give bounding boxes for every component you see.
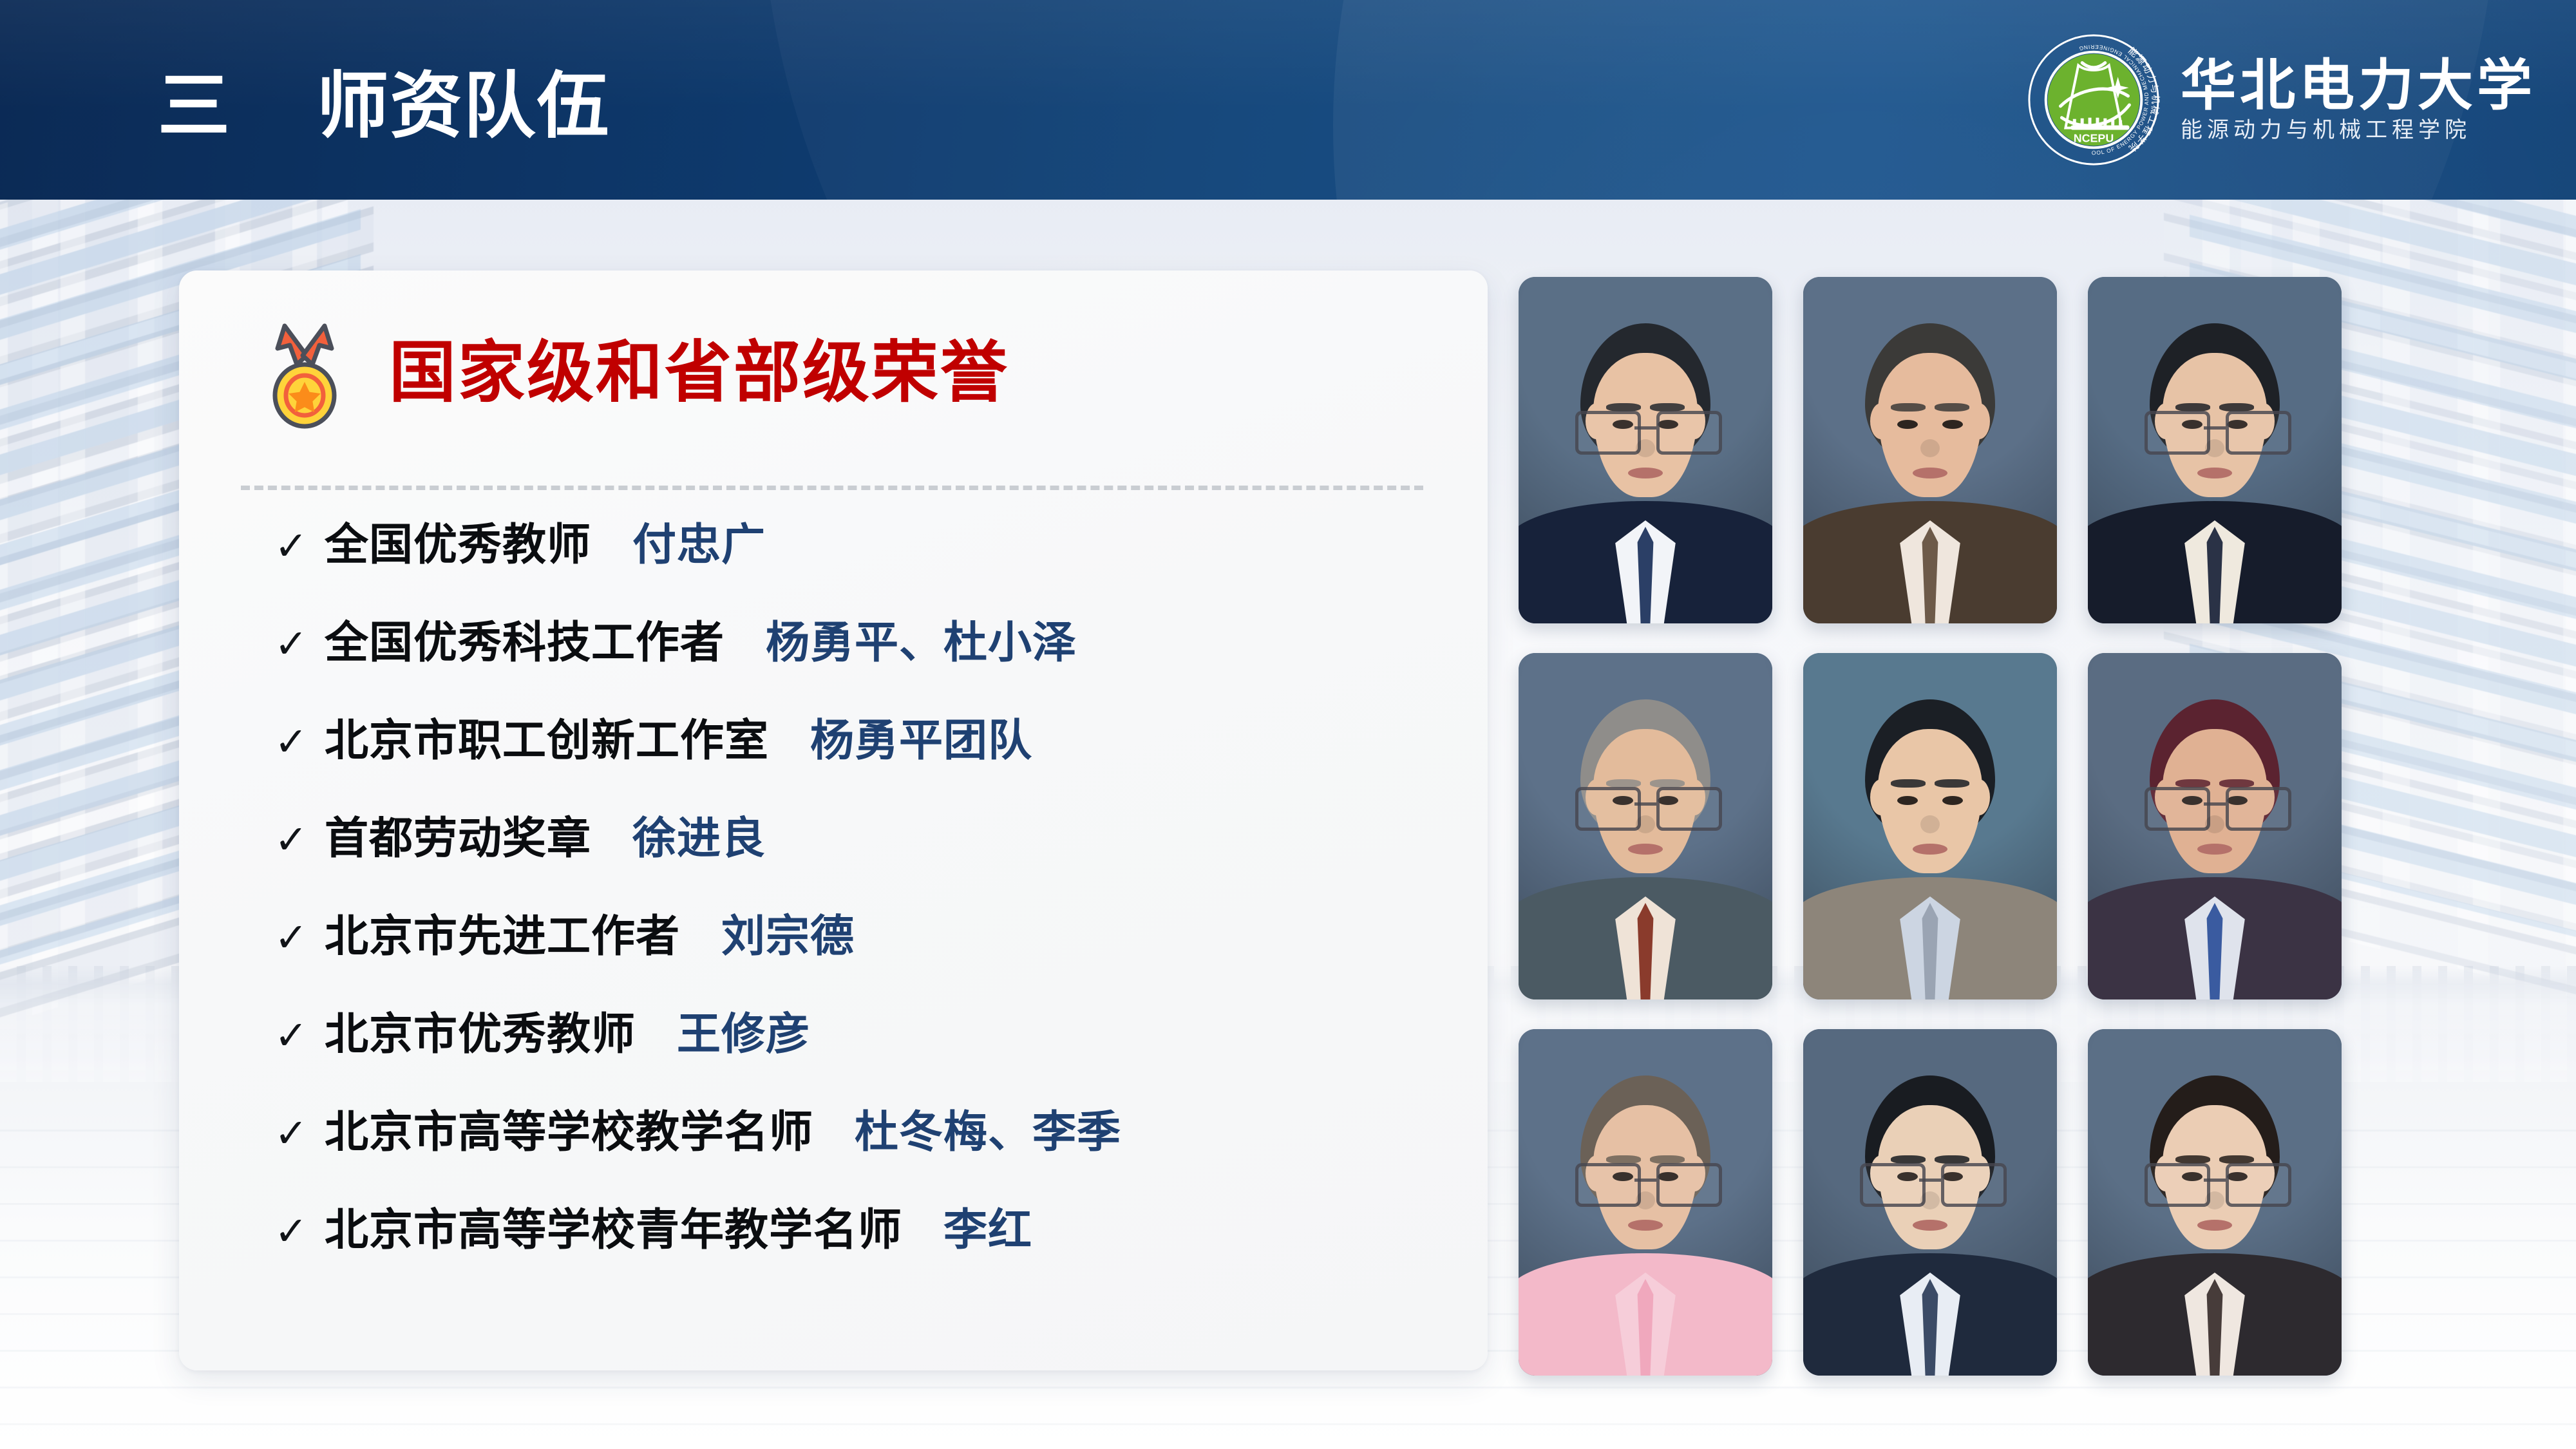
page-title: 三 师资队伍 xyxy=(158,0,610,200)
check-icon: ✓ xyxy=(274,918,325,958)
portrait-nose xyxy=(1920,1191,1940,1209)
portrait-mouth xyxy=(1913,844,1947,855)
honour-names: 徐进良 xyxy=(632,817,766,860)
portrait-brow-right xyxy=(1935,779,1969,788)
portrait-nose xyxy=(2205,1191,2224,1209)
portrait-mouth xyxy=(1628,1220,1663,1231)
check-icon: ✓ xyxy=(274,1113,325,1153)
honour-label: 首都劳动奖章 xyxy=(325,817,591,860)
check-icon: ✓ xyxy=(274,1016,325,1056)
honour-label: 北京市职工创新工作室 xyxy=(325,719,769,762)
check-icon: ✓ xyxy=(274,1211,325,1251)
faculty-portrait-1 xyxy=(1519,277,1772,623)
portrait-mouth xyxy=(1913,468,1947,478)
portrait-nose xyxy=(1636,1191,1655,1209)
faculty-portrait-7 xyxy=(1519,1029,1772,1376)
slide-root: 三 师资队伍 xyxy=(0,0,2576,1449)
portrait-mouth xyxy=(1628,468,1663,478)
portrait-mouth xyxy=(1628,844,1663,855)
faculty-photo-grid xyxy=(1519,277,2338,1367)
portrait-brow-left xyxy=(1891,779,1926,788)
portrait-brow-left xyxy=(1891,403,1926,412)
brand-text-block: 华北电力大学 能源动力与机械工程学院 xyxy=(2181,58,2536,142)
honour-label: 全国优秀科技工作者 xyxy=(325,621,724,665)
list-item: ✓ 北京市高等学校青年教学名师 李红 xyxy=(274,1208,1449,1306)
list-item: ✓ 北京市职工创新工作室 杨勇平团队 xyxy=(274,719,1449,817)
brand-school-name: 能源动力与机械工程学院 xyxy=(2181,120,2536,142)
honour-label: 北京市优秀教师 xyxy=(325,1012,636,1056)
portrait-mouth xyxy=(2197,468,2232,478)
list-item: ✓ 全国优秀教师 付忠广 xyxy=(274,523,1449,621)
faculty-portrait-6 xyxy=(2088,653,2342,999)
honour-label: 北京市高等学校教学名师 xyxy=(325,1110,813,1154)
list-item: ✓ 全国优秀科技工作者 杨勇平、杜小泽 xyxy=(274,621,1449,719)
portrait-nose xyxy=(1920,815,1940,833)
portrait-nose xyxy=(2205,439,2224,457)
check-icon: ✓ xyxy=(274,722,325,762)
portrait-nose xyxy=(1636,815,1655,833)
header-bar: 三 师资队伍 xyxy=(0,0,2576,200)
portrait-eye-right xyxy=(1942,420,1963,429)
honours-list: ✓ 全国优秀教师 付忠广 ✓ 全国优秀科技工作者 杨勇平、杜小泽 ✓ 北京市职工… xyxy=(274,523,1449,1306)
faculty-portrait-3 xyxy=(2088,277,2342,623)
card-divider xyxy=(241,486,1423,490)
honours-title: 国家级和省部级荣誉 xyxy=(389,339,1009,406)
list-item: ✓ 北京市高等学校教学名师 杜冬梅、李季 xyxy=(274,1110,1449,1208)
honour-names: 杨勇平、杜小泽 xyxy=(766,621,1077,665)
faculty-portrait-5 xyxy=(1803,653,2057,999)
list-item: ✓ 北京市优秀教师 王修彦 xyxy=(274,1012,1449,1110)
faculty-portrait-4 xyxy=(1519,653,1772,999)
ncepu-emblem-icon: NCEPU 能源动力与机械工程学院 SCHOOL OF ENERGY POWER… xyxy=(2023,30,2164,170)
emblem-abbr-text: NCEPU xyxy=(2074,131,2114,144)
portrait-eye-right xyxy=(1942,796,1963,805)
honour-names: 刘宗德 xyxy=(721,914,855,958)
check-icon: ✓ xyxy=(274,820,325,860)
portrait-nose xyxy=(2205,815,2224,833)
portrait-brow-right xyxy=(1935,403,1969,412)
honour-names: 李红 xyxy=(943,1208,1032,1252)
honour-names: 付忠广 xyxy=(632,523,766,567)
portrait-mouth xyxy=(2197,1220,2232,1231)
check-icon: ✓ xyxy=(274,624,325,664)
honour-names: 杜冬梅、李季 xyxy=(855,1110,1121,1154)
faculty-portrait-2 xyxy=(1803,277,2057,623)
check-icon: ✓ xyxy=(274,526,325,566)
portrait-mouth xyxy=(2197,844,2232,855)
list-item: ✓ 北京市先进工作者 刘宗德 xyxy=(274,914,1449,1012)
medal-icon xyxy=(256,317,353,430)
honour-label: 北京市先进工作者 xyxy=(325,914,680,958)
portrait-eye-left xyxy=(1897,796,1918,805)
honour-names: 杨勇平团队 xyxy=(810,719,1032,762)
faculty-portrait-9 xyxy=(2088,1029,2342,1376)
portrait-eye-left xyxy=(1897,420,1918,429)
brand-lockup: NCEPU 能源动力与机械工程学院 SCHOOL OF ENERGY POWER… xyxy=(2023,0,2536,200)
portrait-mouth xyxy=(1913,1220,1947,1231)
list-item: ✓ 首都劳动奖章 徐进良 xyxy=(274,817,1449,914)
honour-names: 王修彦 xyxy=(677,1012,810,1056)
honour-label: 全国优秀教师 xyxy=(325,523,591,567)
faculty-portrait-8 xyxy=(1803,1029,2057,1376)
portrait-nose xyxy=(1636,439,1655,457)
honour-label: 北京市高等学校青年教学名师 xyxy=(325,1208,902,1252)
portrait-nose xyxy=(1920,439,1940,457)
honours-card: 国家级和省部级荣誉 ✓ 全国优秀教师 付忠广 ✓ 全国优秀科技工作者 杨勇平、杜… xyxy=(179,270,1488,1370)
brand-university-name: 华北电力大学 xyxy=(2181,58,2536,113)
honours-card-header: 国家级和省部级荣誉 xyxy=(179,312,1488,434)
